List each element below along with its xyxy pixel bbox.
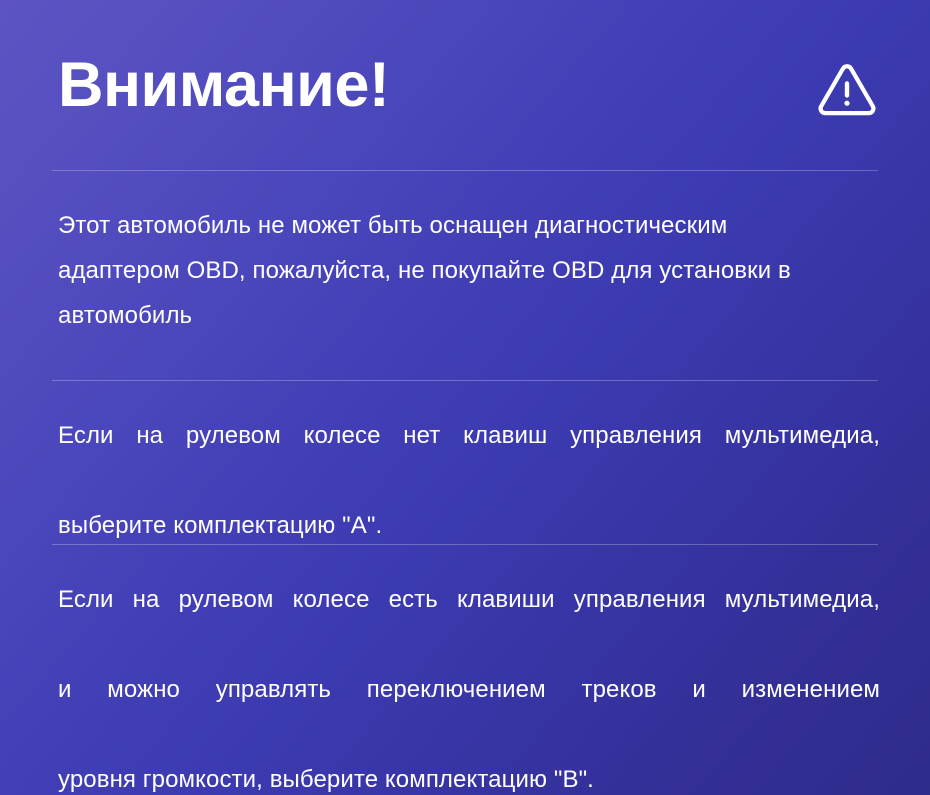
- trim-b-notice-paragraph: Если на рулевом колесе есть клавиши упра…: [58, 577, 880, 795]
- divider: [52, 170, 878, 171]
- obd-notice-line-3: автомобиль: [58, 293, 880, 338]
- trim-b-notice-line-3: уровня громкости, выберите комплектацию …: [58, 757, 880, 795]
- warning-triangle-icon: [816, 62, 878, 120]
- trim-a-notice-line-1: Если на рулевом колесе нет клавиш управл…: [58, 413, 880, 503]
- trim-a-notice-line-2: выберите комплектацию "А".: [58, 503, 880, 548]
- obd-notice-line-2: адаптером OBD, пожалуйста, не покупайте …: [58, 248, 880, 293]
- trim-b-notice-line-2: и можно управлять переключением треков и…: [58, 667, 880, 757]
- warning-notice-card: Внимание! Этот автомобиль не может быть …: [0, 0, 930, 795]
- obd-notice-line-1: Этот автомобиль не может быть оснащен ди…: [58, 203, 880, 248]
- divider: [52, 380, 878, 381]
- card-header: Внимание!: [58, 48, 878, 144]
- divider: [52, 544, 878, 545]
- obd-notice-paragraph: Этот автомобиль не может быть оснащен ди…: [58, 203, 880, 338]
- page-title: Внимание!: [58, 48, 389, 122]
- trim-b-notice-line-1: Если на рулевом колесе есть клавиши упра…: [58, 577, 880, 667]
- trim-a-notice-paragraph: Если на рулевом колесе нет клавиш управл…: [58, 413, 880, 548]
